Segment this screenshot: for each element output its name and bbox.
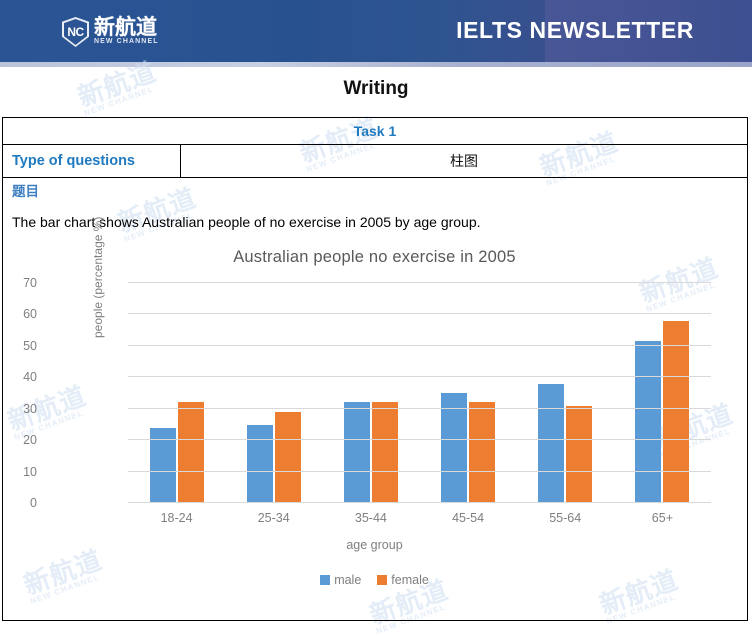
chart-y-tick-label: 30 [0, 404, 37, 414]
logo-mark-text: NC [67, 26, 83, 38]
chart-x-tick-label: 35-44 [322, 511, 419, 525]
table-row-body: 题目 The bar chart shows Australian people… [3, 178, 747, 233]
chart-bar-male [635, 341, 661, 503]
shield-icon: NC [62, 17, 89, 47]
chart-bar-female [663, 321, 689, 503]
page-title: Writing [0, 78, 752, 100]
chart-y-tick-label: 20 [0, 435, 37, 445]
logo-text-stack: 新航道 NEW CHANNEL [94, 18, 159, 46]
bar-chart: Australian people no exercise in 2005 pe… [7, 248, 742, 608]
chart-bar-male [344, 402, 370, 503]
chart-bar-male [247, 425, 273, 503]
logo-english-name: NEW CHANNEL [94, 38, 159, 46]
chart-x-tick-label: 65+ [614, 511, 711, 525]
chart-x-tick-label: 18-24 [128, 511, 225, 525]
chart-y-tick-label: 10 [0, 467, 37, 477]
chart-bar-female [178, 402, 204, 503]
newsletter-title: IELTS NEWSLETTER [456, 17, 694, 44]
legend-swatch-female [377, 575, 387, 585]
legend-label-female: female [391, 573, 429, 587]
chart-x-tick-label: 55-64 [517, 511, 614, 525]
chart-y-tick-label: 40 [0, 372, 37, 382]
chart-y-tick-label: 0 [0, 498, 37, 508]
legend-item-female[interactable]: female [377, 573, 429, 587]
question-type-value: 柱图 [181, 145, 747, 177]
question-type-header: Type of questions [3, 145, 181, 177]
chart-bar-male [538, 384, 564, 503]
chart-gridline [128, 439, 711, 440]
page-root: NC 新航道 NEW CHANNEL IELTS NEWSLETTER Writ… [0, 0, 752, 625]
banner-bottom-strip [0, 62, 752, 67]
header-banner: NC 新航道 NEW CHANNEL IELTS NEWSLETTER [0, 0, 752, 62]
chart-legend: malefemale [7, 573, 742, 587]
chart-gridline [128, 345, 711, 346]
chart-y-tick-label: 60 [0, 309, 37, 319]
chart-bar-female [566, 406, 592, 503]
chart-gridline [128, 471, 711, 472]
logo-chinese-name: 新航道 [94, 18, 159, 38]
chart-title: Australian people no exercise in 2005 [7, 248, 742, 267]
chart-bar-female [275, 412, 301, 503]
chart-y-tick-label: 70 [0, 278, 37, 288]
task-table: Task 1 Type of questions 柱图 题目 The bar c… [2, 117, 748, 621]
chart-gridline [128, 502, 711, 503]
chart-y-tick-label: 50 [0, 341, 37, 351]
brand-logo: NC 新航道 NEW CHANNEL [62, 16, 159, 48]
table-row-question-type: Type of questions 柱图 [3, 145, 747, 178]
chart-gridline [128, 408, 711, 409]
chart-bar-male [441, 393, 467, 503]
chart-bar-female [372, 402, 398, 503]
chart-gridline [128, 376, 711, 377]
chart-x-axis-label: age group [7, 538, 742, 552]
task-prompt-text: The bar chart shows Australian people of… [12, 211, 747, 233]
legend-label-male: male [334, 573, 361, 587]
chart-gridline [128, 313, 711, 314]
chart-plot-area [128, 283, 711, 503]
chart-gridline [128, 282, 711, 283]
chart-bar-female [469, 402, 495, 503]
task-label: Task 1 [354, 123, 397, 139]
legend-item-male[interactable]: male [320, 573, 361, 587]
legend-swatch-male [320, 575, 330, 585]
chart-x-tick-label: 25-34 [225, 511, 322, 525]
table-row-task: Task 1 [3, 118, 747, 145]
body-heading: 题目 [12, 183, 747, 201]
chart-x-tick-label: 45-54 [420, 511, 517, 525]
